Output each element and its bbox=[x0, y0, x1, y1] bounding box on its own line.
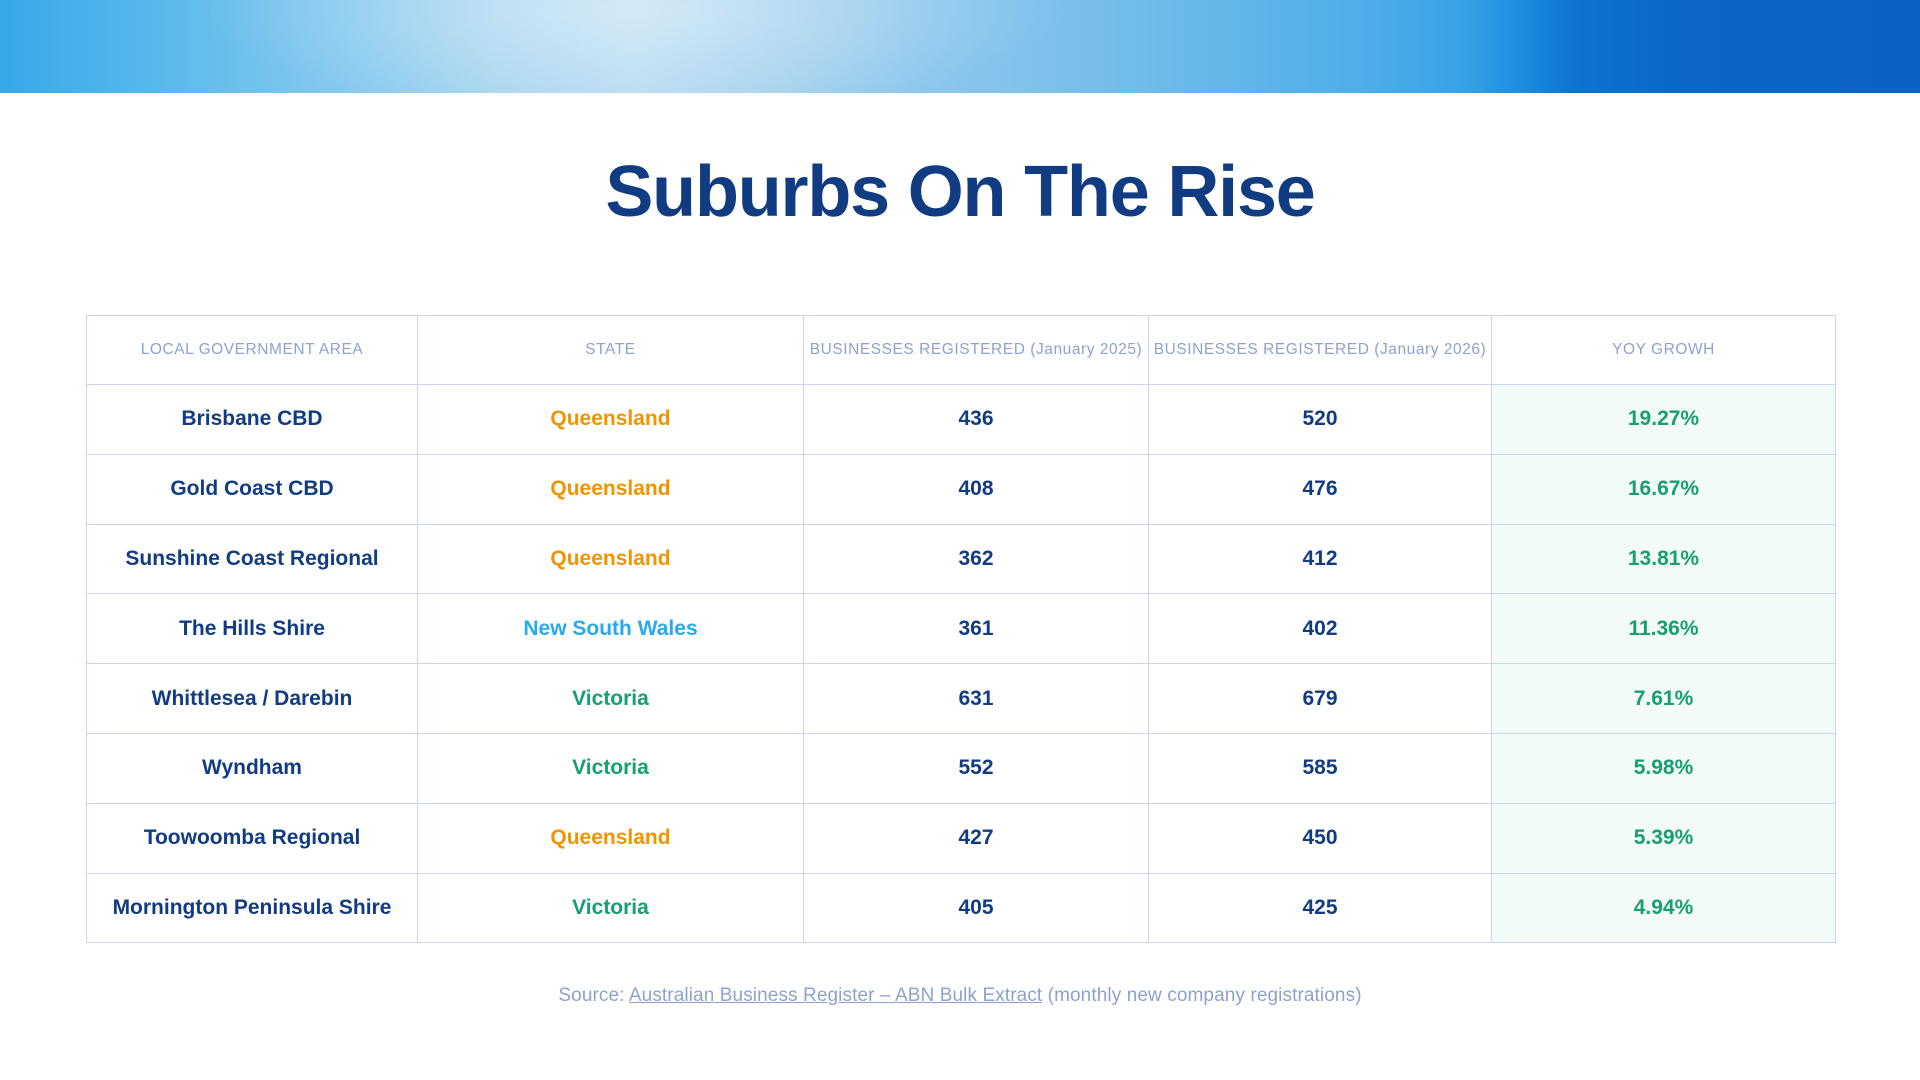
table-body: Brisbane CBDQueensland43652019.27%Gold C… bbox=[87, 385, 1836, 943]
column-header-businesses-registered-2026[interactable]: BUSINESSES REGISTERED (January 2026) bbox=[1149, 316, 1492, 385]
cell-state: Victoria bbox=[418, 733, 804, 803]
cell-state: Queensland bbox=[418, 454, 804, 524]
data-table-container: LOCAL GOVERNMENT AREA STATE BUSINESSES R… bbox=[86, 315, 1835, 943]
cell-businesses-2025: 408 bbox=[804, 454, 1149, 524]
cell-businesses-2025: 362 bbox=[804, 524, 1149, 594]
cell-businesses-2026: 585 bbox=[1149, 733, 1492, 803]
cell-yoy-growth: 7.61% bbox=[1492, 664, 1836, 734]
cell-businesses-2026: 412 bbox=[1149, 524, 1492, 594]
cell-yoy-growth: 4.94% bbox=[1492, 873, 1836, 943]
cell-businesses-2025: 436 bbox=[804, 385, 1149, 455]
source-prefix: Source: bbox=[558, 985, 629, 1006]
cell-state: Queensland bbox=[418, 385, 804, 455]
cell-businesses-2026: 402 bbox=[1149, 594, 1492, 664]
cell-state: Queensland bbox=[418, 524, 804, 594]
cell-state: Queensland bbox=[418, 803, 804, 873]
source-suffix: (monthly new company registrations) bbox=[1042, 985, 1361, 1006]
table-row[interactable]: Whittlesea / DarebinVictoria6316797.61% bbox=[87, 664, 1836, 734]
cell-yoy-growth: 5.39% bbox=[1492, 803, 1836, 873]
cell-businesses-2025: 427 bbox=[804, 803, 1149, 873]
cell-yoy-growth: 16.67% bbox=[1492, 454, 1836, 524]
cell-businesses-2025: 552 bbox=[804, 733, 1149, 803]
cell-local-government-area: Toowoomba Regional bbox=[87, 803, 418, 873]
table-row[interactable]: WyndhamVictoria5525855.98% bbox=[87, 733, 1836, 803]
cell-businesses-2026: 425 bbox=[1149, 873, 1492, 943]
page-title: Suburbs On The Rise bbox=[0, 156, 1920, 228]
table-header-row: LOCAL GOVERNMENT AREA STATE BUSINESSES R… bbox=[87, 316, 1836, 385]
cell-yoy-growth: 19.27% bbox=[1492, 385, 1836, 455]
suburbs-data-table: LOCAL GOVERNMENT AREA STATE BUSINESSES R… bbox=[86, 315, 1836, 943]
cell-yoy-growth: 11.36% bbox=[1492, 594, 1836, 664]
source-caption: Source: Australian Business Register – A… bbox=[0, 985, 1920, 1007]
column-header-yoy-growth[interactable]: YOY GROWH bbox=[1492, 316, 1836, 385]
table-row[interactable]: Gold Coast CBDQueensland40847616.67% bbox=[87, 454, 1836, 524]
cell-local-government-area: The Hills Shire bbox=[87, 594, 418, 664]
table-row[interactable]: Toowoomba RegionalQueensland4274505.39% bbox=[87, 803, 1836, 873]
cell-local-government-area: Sunshine Coast Regional bbox=[87, 524, 418, 594]
table-row[interactable]: Brisbane CBDQueensland43652019.27% bbox=[87, 385, 1836, 455]
cell-businesses-2025: 631 bbox=[804, 664, 1149, 734]
top-gradient-banner bbox=[0, 0, 1920, 93]
cell-local-government-area: Mornington Peninsula Shire bbox=[87, 873, 418, 943]
table-header: LOCAL GOVERNMENT AREA STATE BUSINESSES R… bbox=[87, 316, 1836, 385]
table-row[interactable]: Mornington Peninsula ShireVictoria405425… bbox=[87, 873, 1836, 943]
cell-local-government-area: Wyndham bbox=[87, 733, 418, 803]
cell-businesses-2026: 476 bbox=[1149, 454, 1492, 524]
cell-yoy-growth: 13.81% bbox=[1492, 524, 1836, 594]
cell-local-government-area: Whittlesea / Darebin bbox=[87, 664, 418, 734]
cell-state: Victoria bbox=[418, 873, 804, 943]
column-header-local-government-area[interactable]: LOCAL GOVERNMENT AREA bbox=[87, 316, 418, 385]
cell-businesses-2025: 405 bbox=[804, 873, 1149, 943]
cell-businesses-2026: 679 bbox=[1149, 664, 1492, 734]
column-header-businesses-registered-2025[interactable]: BUSINESSES REGISTERED (January 2025) bbox=[804, 316, 1149, 385]
table-row[interactable]: The Hills ShireNew South Wales36140211.3… bbox=[87, 594, 1836, 664]
cell-local-government-area: Brisbane CBD bbox=[87, 385, 418, 455]
source-link[interactable]: Australian Business Register – ABN Bulk … bbox=[629, 985, 1042, 1006]
cell-state: Victoria bbox=[418, 664, 804, 734]
cell-yoy-growth: 5.98% bbox=[1492, 733, 1836, 803]
cell-state: New South Wales bbox=[418, 594, 804, 664]
cell-businesses-2026: 450 bbox=[1149, 803, 1492, 873]
banner-sheen-overlay bbox=[0, 0, 1920, 93]
column-header-state[interactable]: STATE bbox=[418, 316, 804, 385]
cell-businesses-2025: 361 bbox=[804, 594, 1149, 664]
cell-businesses-2026: 520 bbox=[1149, 385, 1492, 455]
table-row[interactable]: Sunshine Coast RegionalQueensland3624121… bbox=[87, 524, 1836, 594]
cell-local-government-area: Gold Coast CBD bbox=[87, 454, 418, 524]
